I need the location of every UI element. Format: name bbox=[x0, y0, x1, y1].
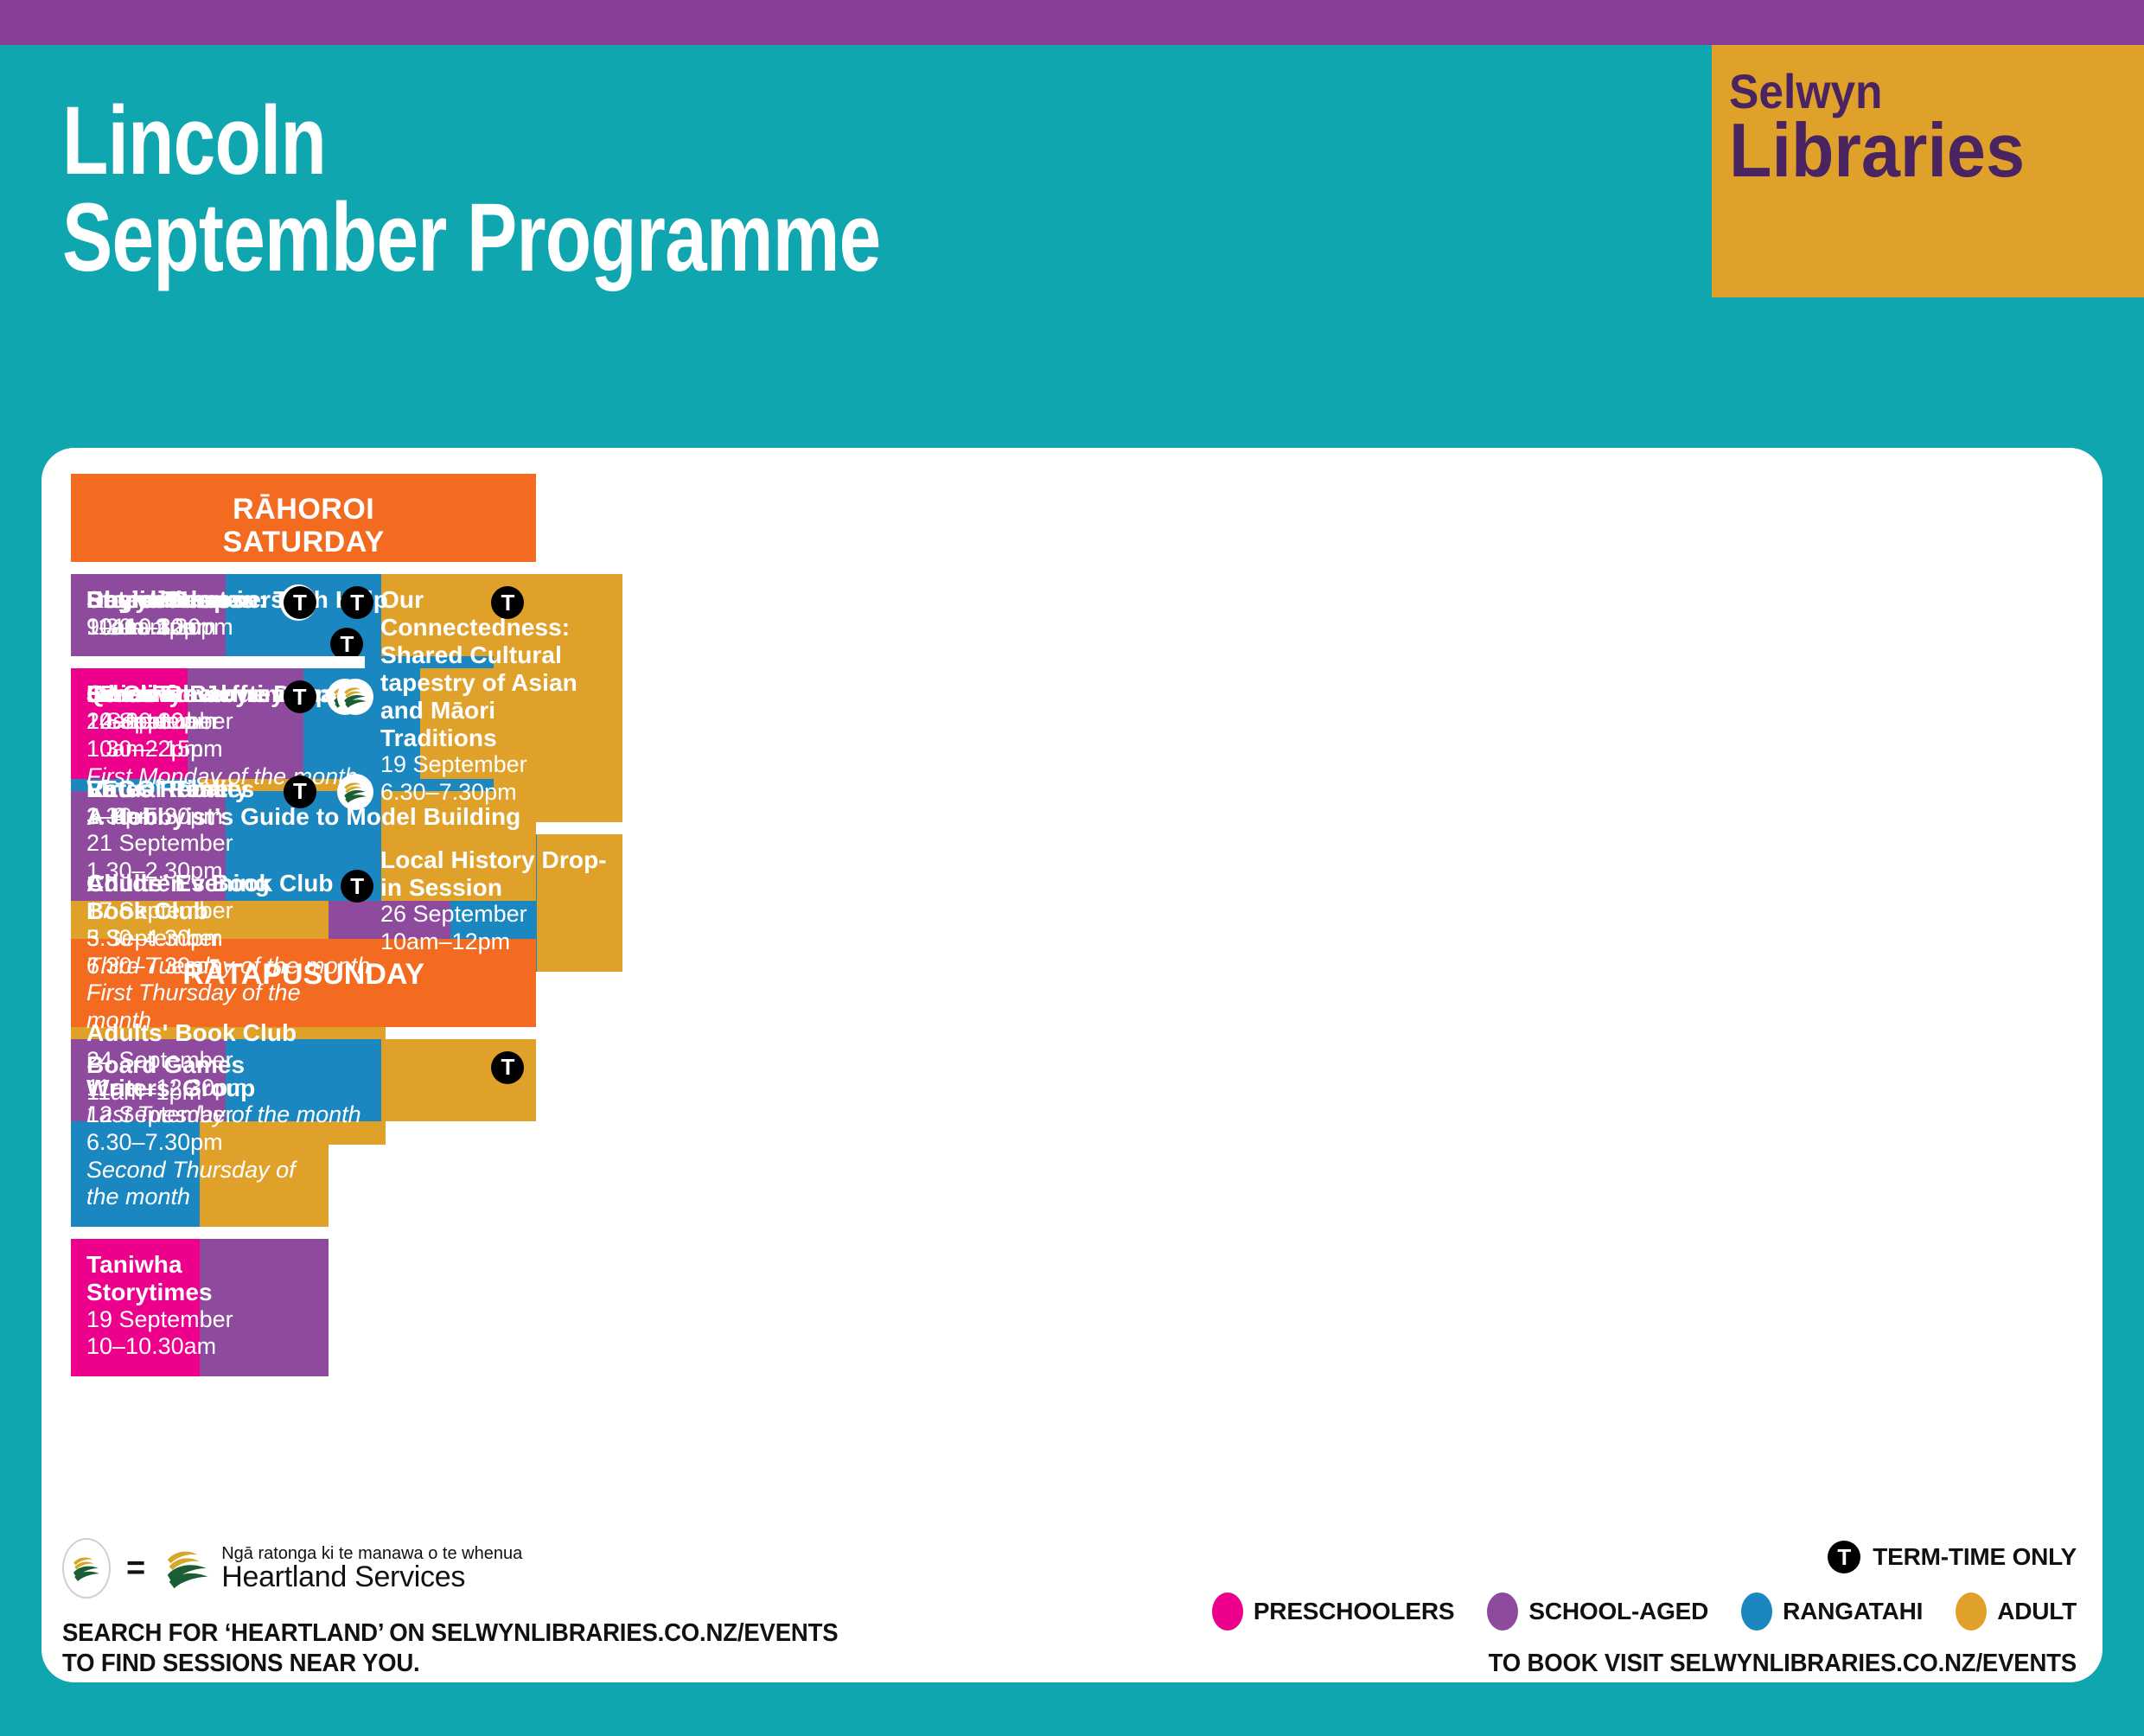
day-name-english: SATURDAY bbox=[76, 526, 531, 558]
event-card[interactable]: Adults' Evening Book Club5 September6.30… bbox=[71, 858, 329, 1050]
term-time-badge-icon: T bbox=[284, 586, 316, 619]
event-note: First Thursday of the month bbox=[86, 980, 313, 1034]
heartland-swoosh-icon bbox=[341, 777, 370, 807]
legend-label: SCHOOL-AGED bbox=[1528, 1598, 1708, 1625]
event-note: Second Thursday of the month bbox=[86, 1157, 313, 1211]
search-note-line: TO FIND SESSIONS NEAR YOU. bbox=[62, 1649, 966, 1679]
event-meta: 5 September bbox=[86, 925, 313, 953]
term-time-badge-icon: T bbox=[341, 586, 373, 619]
poster-root: Lincoln September Programme Selwyn Libra… bbox=[0, 0, 2144, 1736]
legend-item: SCHOOL-AGED bbox=[1487, 1592, 1708, 1631]
card-content: Taniwha Storytimes19 September10–10.30am bbox=[86, 1251, 313, 1361]
heartland-key-row: = Ngā ratonga ki te manawa o te whenua H… bbox=[62, 1541, 1013, 1596]
heartland-swoosh-icon bbox=[69, 1551, 104, 1586]
top-purple-strip bbox=[0, 0, 2144, 45]
legend-swatch-icon bbox=[1487, 1592, 1518, 1631]
footer-legend-block: T TERM-TIME ONLY PRESCHOOLERSSCHOOL-AGED… bbox=[1056, 1541, 2077, 1678]
term-time-label: TERM-TIME ONLY bbox=[1873, 1543, 2077, 1571]
event-title: Virtual Reality bbox=[86, 775, 313, 803]
title-line-programme: September Programme bbox=[62, 192, 880, 284]
search-note-line: SEARCH FOR ‘HEARTLAND’ ON SELWYNLIBRARIE… bbox=[62, 1618, 966, 1649]
event-meta: 6.30–7.30pm bbox=[86, 1129, 313, 1157]
day-columns: RĀHINAMONDAYEnglish Learners1.30—2.30pmT… bbox=[71, 474, 2077, 1494]
card-content: Board Games11am–1pm bbox=[86, 1051, 520, 1106]
audience-legend: PRESCHOOLERSSCHOOL-AGEDRANGATAHIADULT bbox=[1056, 1592, 2077, 1631]
heartland-swoosh-icon bbox=[341, 682, 370, 712]
footer-heartland-block: = Ngā ratonga ki te manawa o te whenua H… bbox=[62, 1541, 1013, 1680]
heartland-services-logo: Ngā ratonga ki te manawa o te whenua Hea… bbox=[161, 1541, 522, 1595]
equals-sign: = bbox=[126, 1550, 145, 1587]
term-time-badge-icon: T bbox=[1828, 1541, 1860, 1573]
heartland-badge-icon bbox=[337, 774, 373, 810]
event-meta: 12 September bbox=[86, 1101, 313, 1129]
legend-label: ADULT bbox=[1997, 1598, 2077, 1625]
term-time-badge-icon: T bbox=[330, 628, 363, 656]
term-time-legend: T TERM-TIME ONLY bbox=[1056, 1541, 2077, 1573]
legend-label: PRESCHOOLERS bbox=[1254, 1598, 1455, 1625]
event-meta: 19 September bbox=[86, 1306, 313, 1334]
poster-title: Lincoln September Programme bbox=[62, 95, 1111, 284]
card-content: Adults' Evening Book Club5 September6.30… bbox=[86, 870, 313, 1034]
legend-swatch-icon bbox=[1741, 1592, 1772, 1631]
event-meta: 1.30–2.15pm bbox=[86, 736, 520, 763]
heartland-name: Heartland Services bbox=[221, 1562, 522, 1592]
heartland-swoosh-logo-icon bbox=[161, 1541, 214, 1595]
event-meta: 6.30–7.30pm bbox=[86, 953, 313, 980]
event-meta: 10–10.30am bbox=[86, 1333, 313, 1361]
title-line-location: Lincoln bbox=[62, 95, 880, 187]
event-meta: 21 September bbox=[86, 830, 520, 858]
legend-swatch-icon bbox=[1956, 1592, 1987, 1631]
term-time-badge-icon: T bbox=[284, 775, 316, 808]
event-meta: 11am–1pm bbox=[86, 1079, 520, 1107]
legend-item: ADULT bbox=[1956, 1592, 2077, 1631]
event-title: Board Games bbox=[86, 1051, 520, 1079]
event-meta: 1.30–2.30pm bbox=[86, 858, 520, 885]
heartland-tagline: Ngā ratonga ki te manawa o te whenua bbox=[221, 1545, 522, 1562]
event-meta: 10am–12pm bbox=[380, 929, 607, 956]
term-time-badge-icon: T bbox=[491, 1051, 524, 1084]
day-name-maori: RĀHOROI bbox=[76, 493, 531, 526]
legend-item: RANGATAHI bbox=[1741, 1592, 1923, 1631]
event-card[interactable]: Taniwha Storytimes19 September10–10.30am bbox=[71, 1239, 329, 1376]
heartland-wordmark: Ngā ratonga ki te manawa o te whenua Hea… bbox=[221, 1545, 522, 1592]
legend-swatch-icon bbox=[1212, 1592, 1243, 1631]
selwyn-libraries-logo: Selwyn Libraries bbox=[1729, 69, 2051, 186]
legend-item: PRESCHOOLERS bbox=[1212, 1592, 1455, 1631]
brand-libraries: Libraries bbox=[1729, 115, 2025, 187]
legend-label: RANGATAHI bbox=[1783, 1598, 1923, 1625]
event-title: Taniwha Storytimes bbox=[86, 1251, 313, 1306]
event-meta: 26 September bbox=[380, 901, 607, 929]
card-content: A Hobbyist’s Guide to Model Building21 S… bbox=[86, 803, 520, 885]
heartland-icon-circle bbox=[62, 1538, 111, 1599]
term-time-badge-icon: T bbox=[284, 680, 316, 713]
heartland-search-note: SEARCH FOR ‘HEARTLAND’ ON SELWYNLIBRARIE… bbox=[62, 1618, 966, 1680]
booking-note: TO BOOK VISIT SELWYNLIBRARIES.CO.NZ/EVEN… bbox=[1107, 1650, 2077, 1678]
day-header-saturday: RĀHOROISATURDAY bbox=[71, 474, 536, 562]
